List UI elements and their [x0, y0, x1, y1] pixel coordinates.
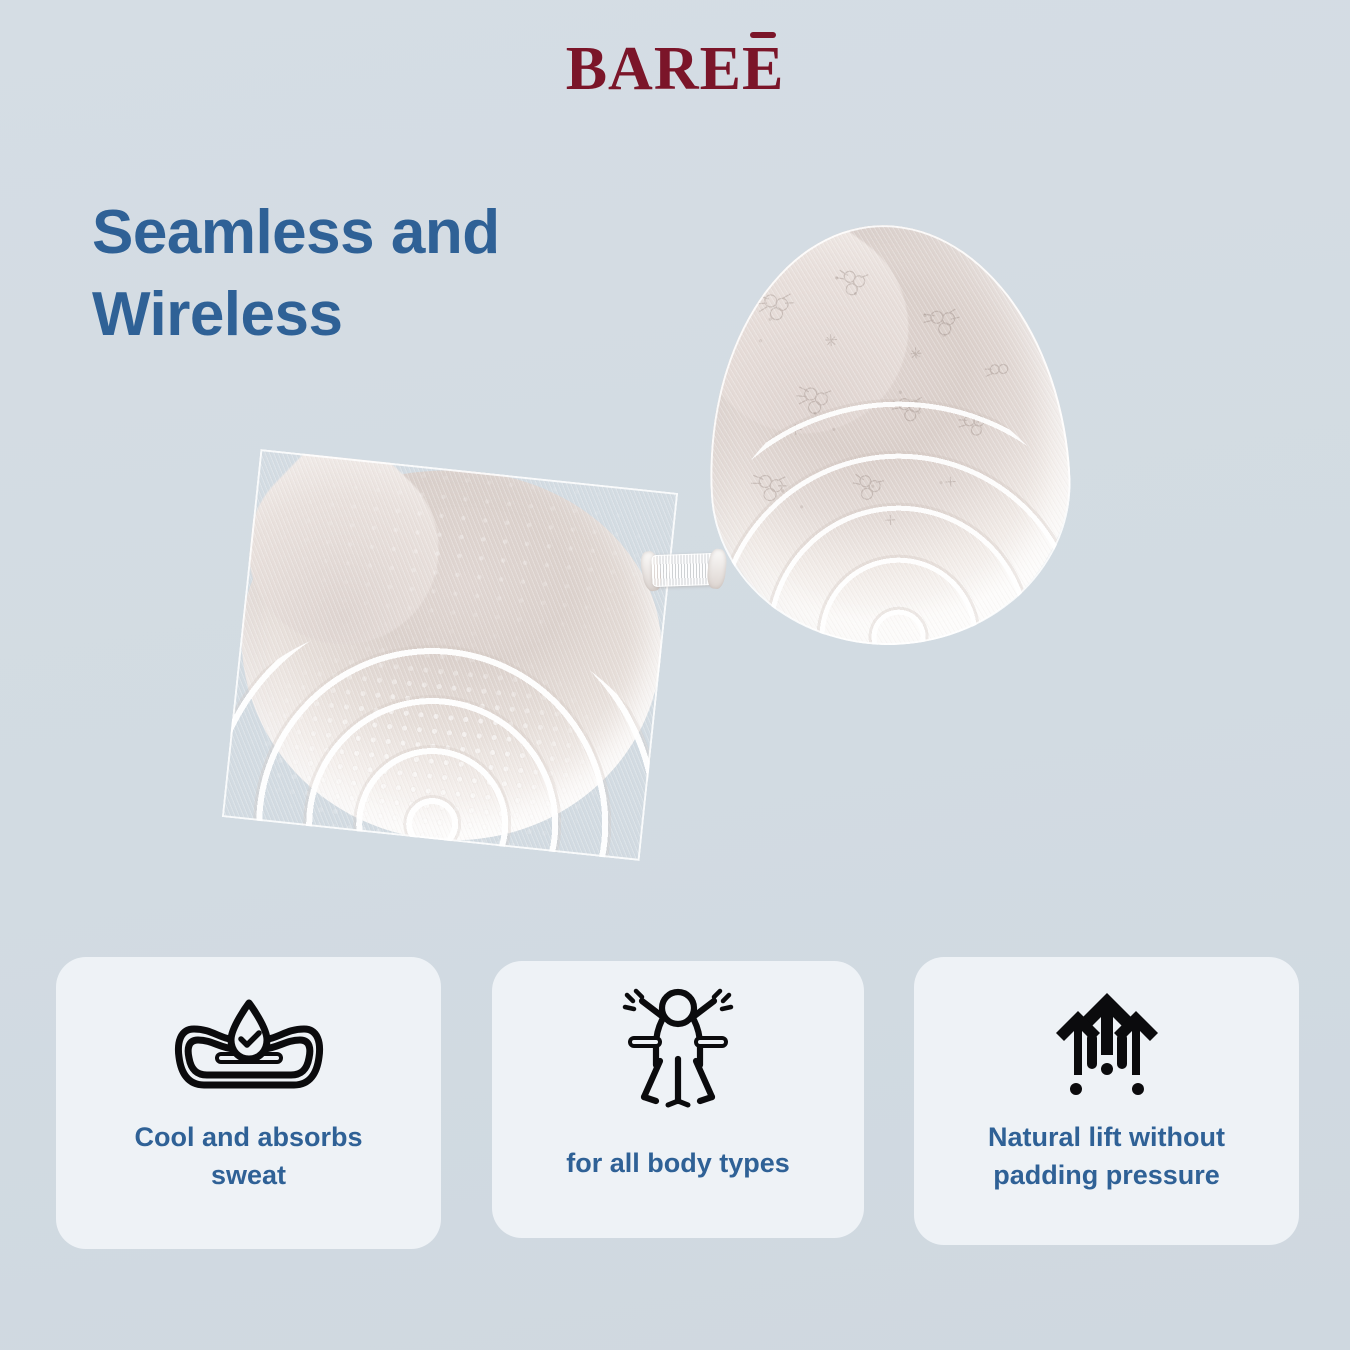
- feature-card-natural-lift: Natural lift without padding pressure: [914, 957, 1299, 1245]
- feature-card-all-body-types: for all body types: [492, 961, 864, 1238]
- three-up-arrows-icon: [1051, 989, 1163, 1101]
- brand-logo: BAREE: [0, 38, 1350, 100]
- celebrating-person-icon: [622, 985, 734, 1111]
- brand-name-accent-letter: E: [742, 38, 784, 100]
- product-left-cup: [222, 449, 678, 861]
- promo-banner: BAREE Seamless and Wireless: [0, 0, 1350, 1350]
- feature-card-cool-absorbs-sweat: Cool and absorbs sweat: [56, 957, 441, 1249]
- product-center-tab: [643, 547, 725, 596]
- product-image: [230, 225, 1110, 870]
- left-cup-rim: [222, 449, 678, 861]
- water-droplet-absorbent-pad-icon: [174, 991, 324, 1103]
- feature-card-label: for all body types: [540, 1145, 816, 1183]
- feature-card-label: Cool and absorbs sweat: [108, 1119, 388, 1195]
- feature-card-label: Natural lift without padding pressure: [962, 1119, 1251, 1195]
- brand-name-main: BARE: [566, 35, 742, 103]
- product-right-cup: [697, 216, 1078, 654]
